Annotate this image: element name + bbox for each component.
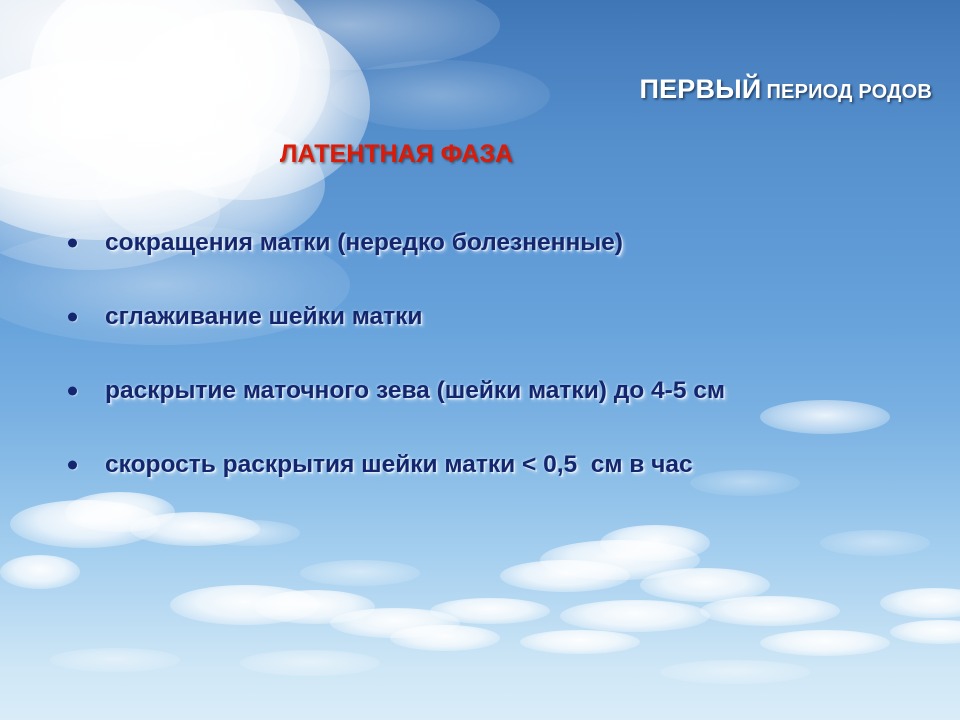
list-item-label: скорость раскрытия шейки матки < 0,5 см … [105, 451, 693, 479]
list-item: раскрытие маточного зева (шейки матки) д… [0, 354, 960, 428]
list-item: сглаживание шейки матки [0, 280, 960, 354]
bullet-dot-icon [68, 387, 77, 396]
slide-title-sub: ПЕРИОД РОДОВ [766, 81, 932, 103]
bullet-dot-icon [68, 461, 77, 470]
bullet-list: сокращения матки (нередко болезненные) с… [0, 206, 960, 502]
presentation-slide: ПЕРВЫЙПЕРИОД РОДОВ ЛАТЕНТНАЯ ФАЗА сокращ… [0, 0, 960, 720]
slide-title-main: ПЕРВЫЙ [639, 74, 761, 104]
list-item: скорость раскрытия шейки матки < 0,5 см … [0, 428, 960, 502]
list-item-label: раскрытие маточного зева (шейки матки) д… [105, 377, 725, 405]
list-item-label: сокращения матки (нередко болезненные) [105, 229, 623, 257]
list-item: сокращения матки (нередко болезненные) [0, 206, 960, 280]
slide-title: ПЕРВЫЙПЕРИОД РОДОВ [639, 74, 932, 105]
bullet-dot-icon [68, 239, 77, 248]
phase-heading: ЛАТЕНТНАЯ ФАЗА [0, 140, 793, 169]
slide-content: ПЕРВЫЙПЕРИОД РОДОВ ЛАТЕНТНАЯ ФАЗА сокращ… [0, 0, 960, 720]
bullet-dot-icon [68, 313, 77, 322]
list-item-label: сглаживание шейки матки [105, 303, 422, 331]
